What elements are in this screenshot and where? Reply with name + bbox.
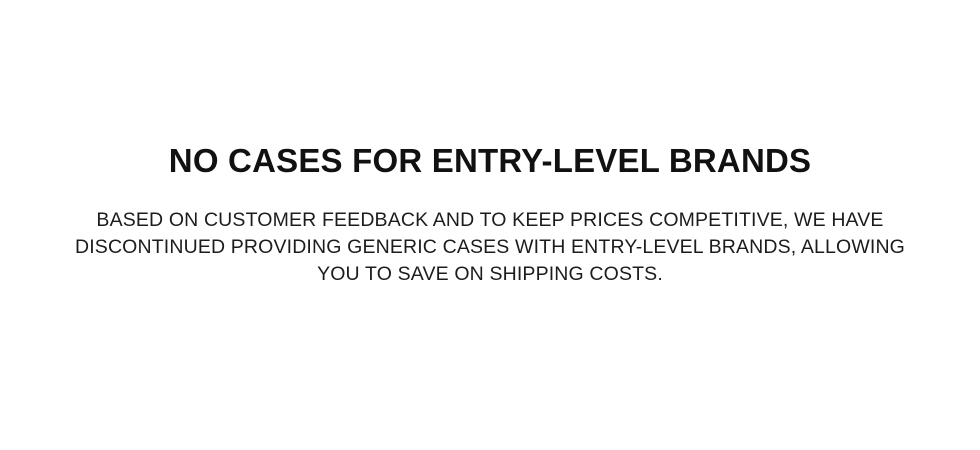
notice-body-line-1: BASED ON CUSTOMER FEEDBACK AND TO KEEP P…	[0, 207, 980, 234]
notice-section: NO CASES FOR ENTRY-LEVEL BRANDS BASED ON…	[0, 0, 980, 450]
notice-body-text: BASED ON CUSTOMER FEEDBACK AND TO KEEP P…	[0, 207, 980, 288]
page-title: NO CASES FOR ENTRY-LEVEL BRANDS	[0, 140, 980, 182]
notice-body-line-3: YOU TO SAVE ON SHIPPING COSTS.	[0, 261, 980, 288]
notice-content-block: NO CASES FOR ENTRY-LEVEL BRANDS BASED ON…	[0, 0, 980, 288]
notice-body-line-2: DISCONTINUED PROVIDING GENERIC CASES WIT…	[0, 234, 980, 261]
